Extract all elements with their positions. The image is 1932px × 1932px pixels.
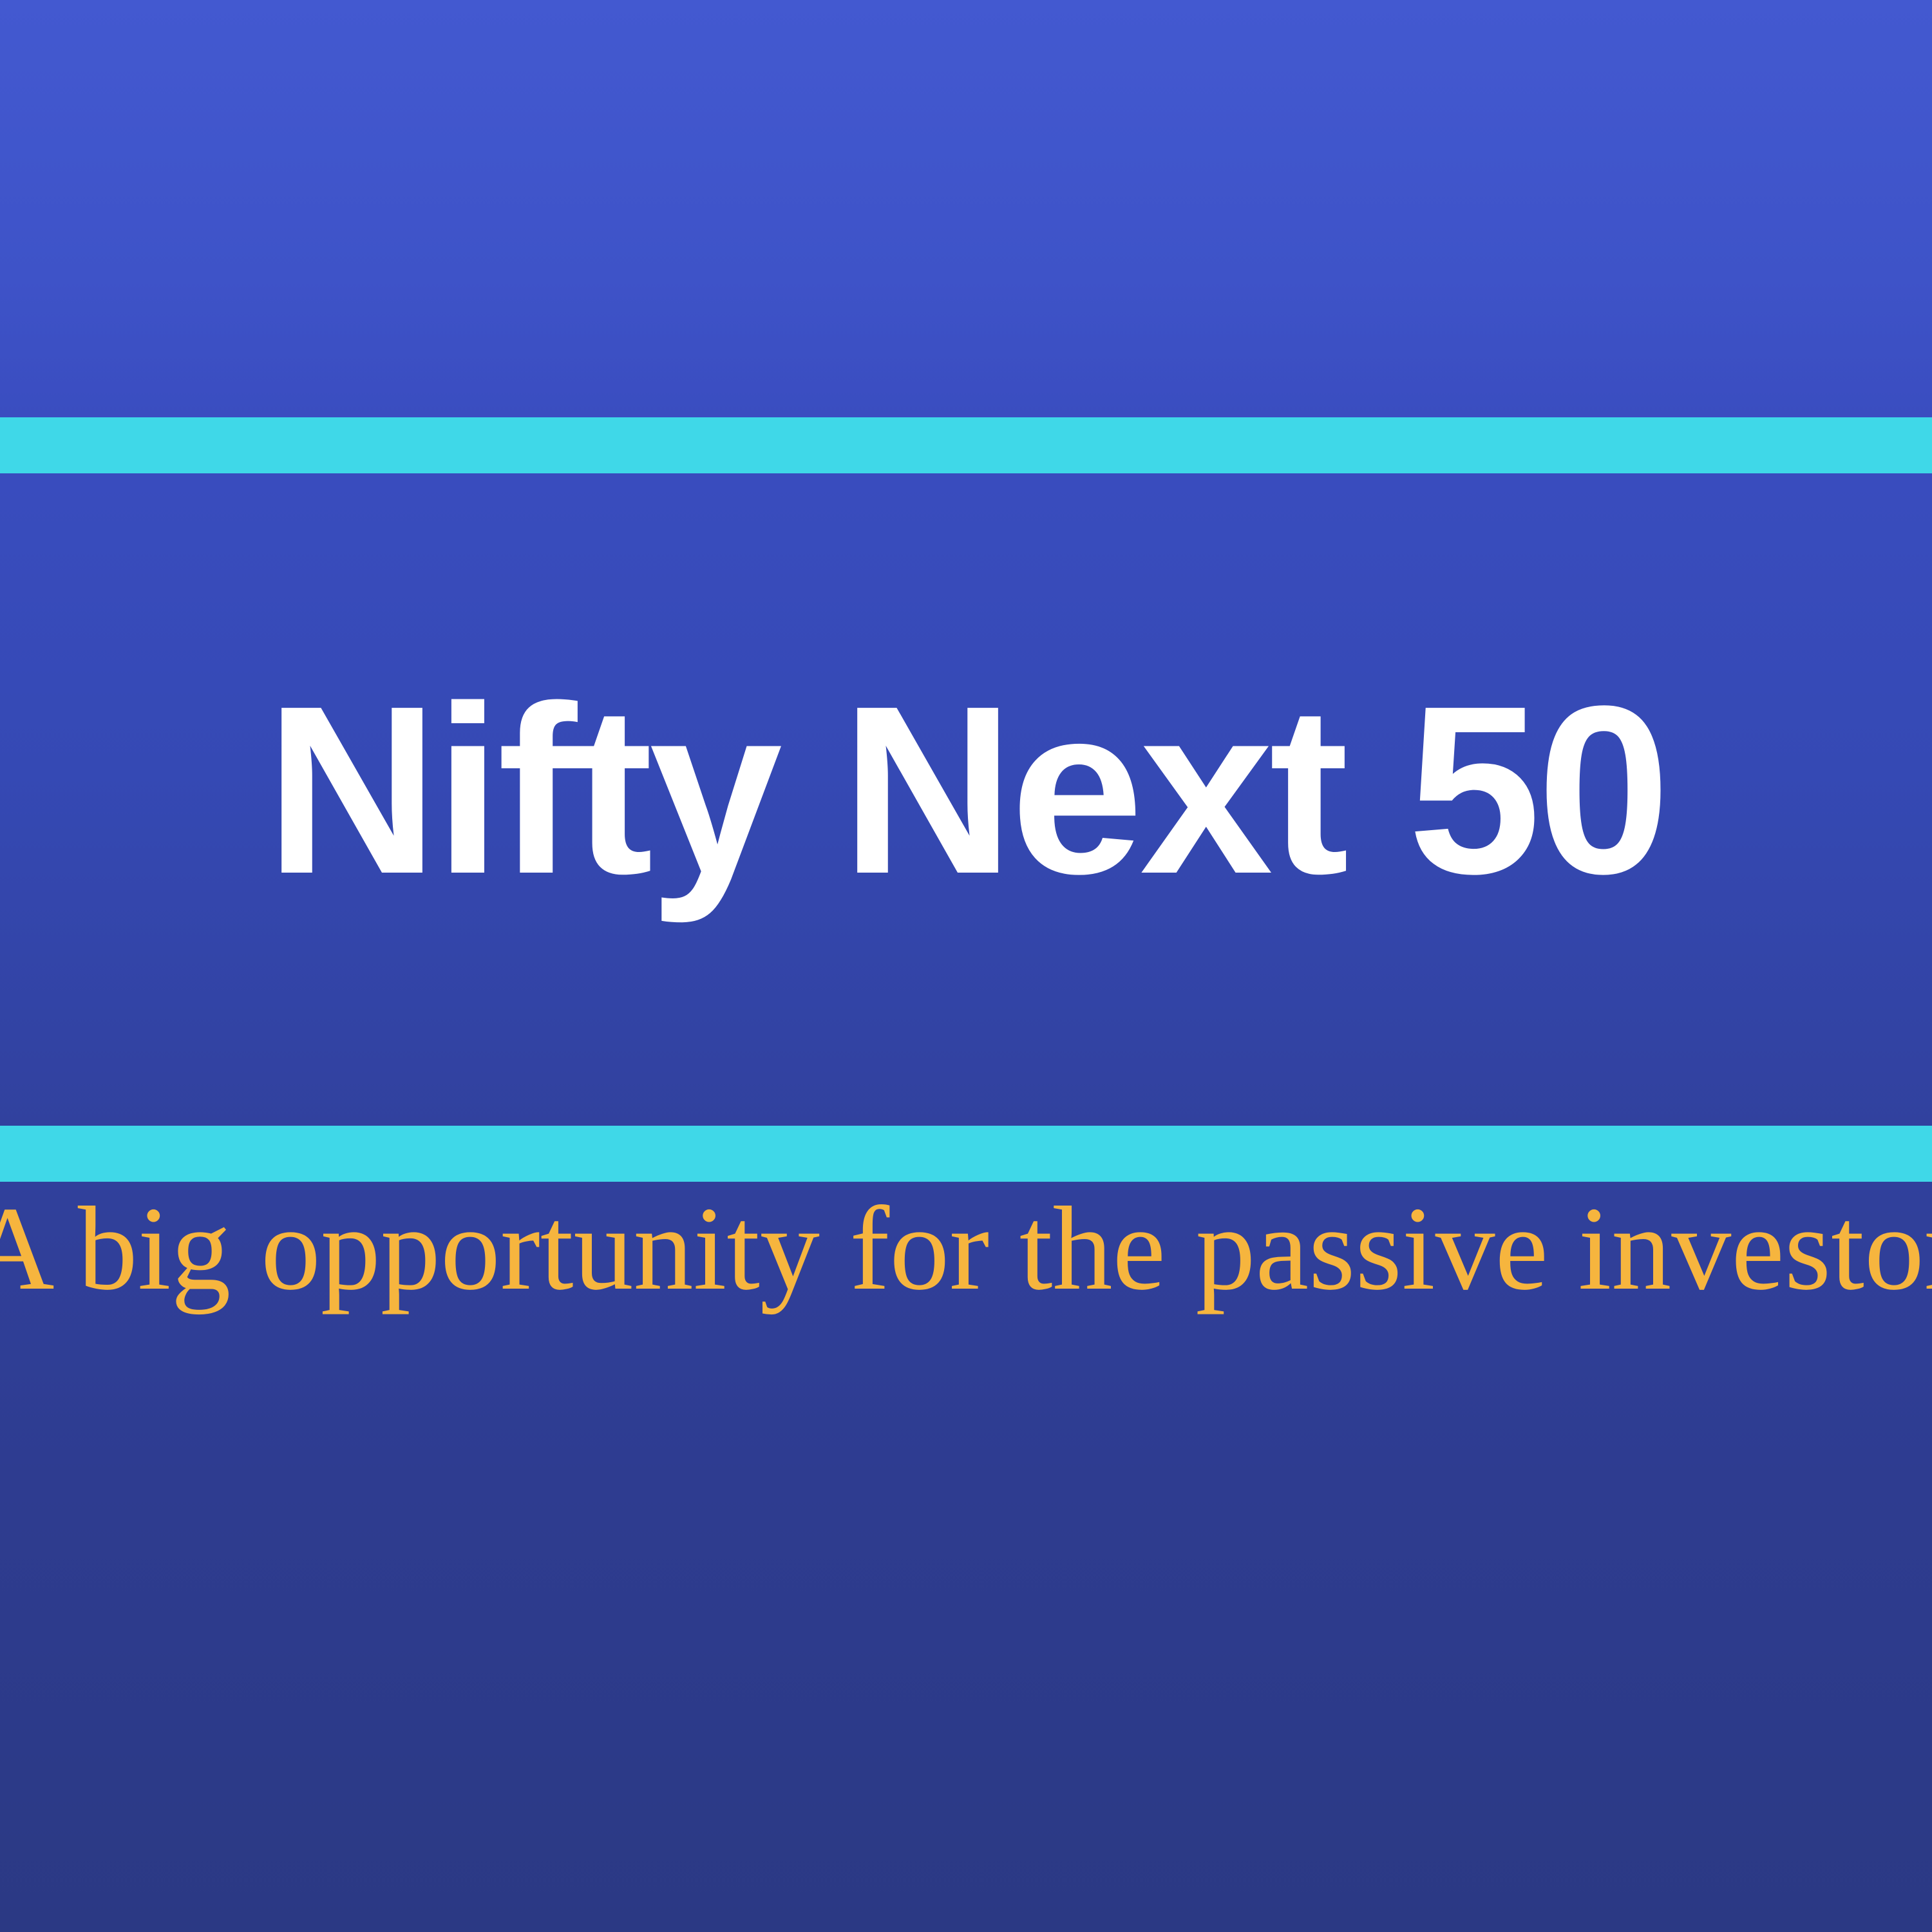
- lower-empty-region: [0, 1375, 1932, 1932]
- subtitle-text: A big opportunity for the passive invest…: [0, 1182, 1932, 1316]
- subtitle-band: A big opportunity for the passive invest…: [0, 1182, 1932, 1375]
- title-band: Nifty Next 50: [0, 473, 1932, 1126]
- bottom-cyan-divider: [0, 1126, 1932, 1182]
- top-cyan-divider: [0, 417, 1932, 473]
- page-title: Nifty Next 50: [265, 670, 1666, 909]
- title-slide: Nifty Next 50 A big opportunity for the …: [0, 0, 1932, 1932]
